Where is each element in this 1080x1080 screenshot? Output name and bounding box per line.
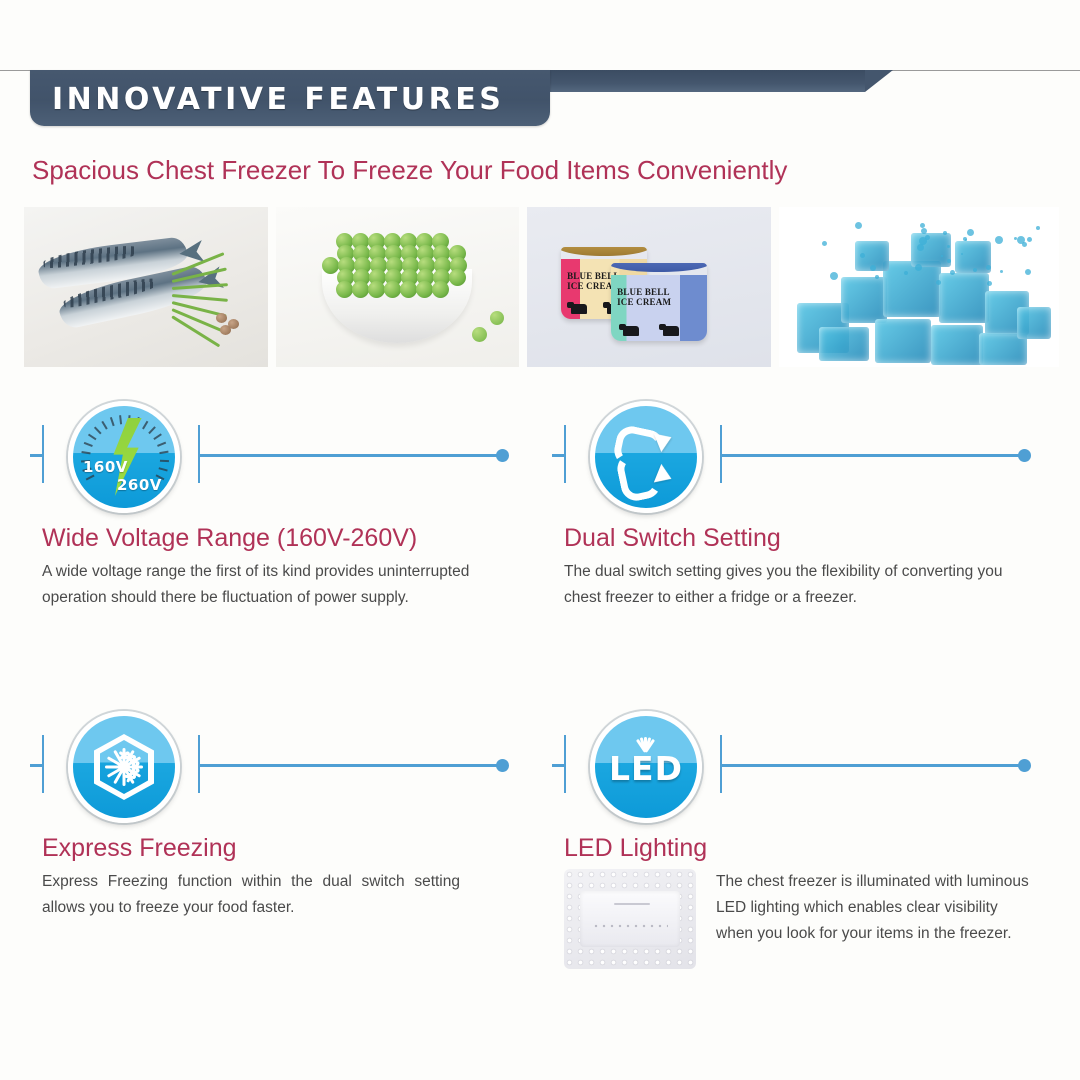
- feature-heading: Express Freezing: [42, 834, 237, 863]
- pea: [322, 257, 339, 274]
- pea: [490, 311, 504, 325]
- ice-cube: [931, 325, 983, 365]
- water-droplet: [987, 281, 992, 286]
- rail-dot: [1018, 759, 1031, 772]
- feature-heading: Wide Voltage Range (160V-260V): [42, 524, 417, 553]
- gauge-tick: [159, 451, 168, 454]
- led-slit: [614, 903, 650, 905]
- gauge-tick: [94, 426, 102, 434]
- chive: [172, 283, 228, 290]
- cow-silhouette: [663, 326, 679, 336]
- water-droplet: [830, 272, 838, 280]
- led-lamp-icon: LED: [590, 711, 702, 823]
- ice-cube: [939, 273, 989, 323]
- pea: [432, 281, 449, 298]
- pea: [336, 281, 353, 298]
- water-droplet: [1027, 237, 1032, 242]
- chive: [172, 294, 228, 302]
- tub-brand-line1: BLUE BELL: [617, 287, 670, 297]
- feature-body: The chest freezer is illuminated with lu…: [716, 869, 1034, 969]
- tub-brand-line2: ICE CREAM: [617, 297, 671, 307]
- shuffle-arrows-icon: [590, 401, 702, 513]
- led-diodes: [592, 923, 668, 929]
- ice-cube: [841, 277, 887, 323]
- water-droplet: [986, 265, 991, 270]
- feature-heading: Dual Switch Setting: [564, 524, 781, 553]
- water-droplet: [1000, 270, 1003, 273]
- gauge-tick: [119, 415, 122, 424]
- gauge-tick: [157, 442, 166, 447]
- water-droplet: [1025, 269, 1031, 275]
- feature-body: Express Freezing function within the dua…: [42, 869, 460, 921]
- innovative-features-page: INNOVATIVE FEATURES Spacious Chest Freez…: [0, 0, 1080, 1080]
- peas-pile: [316, 233, 478, 295]
- ice-cube: [883, 261, 941, 317]
- feature-body: The dual switch setting gives you the fl…: [564, 559, 1004, 611]
- frozen-fish-photo: [24, 207, 268, 367]
- voltage-high-label: 260V: [117, 476, 162, 494]
- gauge-tick: [142, 421, 148, 430]
- page-title: INNOVATIVE FEATURES: [52, 82, 552, 116]
- gauge-tick: [81, 451, 90, 454]
- rail-stub: [30, 454, 44, 457]
- snowflake-hexagon-icon: [68, 711, 180, 823]
- rail-dot: [1018, 449, 1031, 462]
- water-droplet: [917, 244, 924, 251]
- water-droplet: [855, 222, 862, 229]
- rail-stub: [552, 454, 566, 457]
- rail-line: [200, 764, 500, 767]
- snowflake-glyph: [106, 746, 142, 788]
- pea: [472, 327, 487, 342]
- pea: [352, 281, 369, 298]
- frozen-peas-photo: [276, 207, 520, 367]
- water-droplet: [904, 271, 908, 275]
- rail-dot: [496, 759, 509, 772]
- pea: [400, 281, 417, 298]
- photo-strip: BLUE BELL ICE CREAM BLUE BELL ICE CREAM: [24, 207, 1059, 367]
- cow-silhouette: [623, 326, 639, 336]
- gauge-tick: [148, 426, 156, 434]
- rail-line: [200, 454, 500, 457]
- tub-label: BLUE BELL ICE CREAM: [611, 275, 707, 341]
- water-droplet: [973, 268, 977, 272]
- water-droplet: [860, 253, 865, 258]
- water-droplet: [963, 237, 967, 241]
- water-droplet: [995, 236, 1003, 244]
- chives: [172, 269, 248, 323]
- ice-cube: [875, 319, 931, 363]
- pea: [416, 281, 433, 298]
- peppercorn: [216, 313, 227, 323]
- voltage-low-label: 160V: [83, 458, 128, 476]
- subtitle: Spacious Chest Freezer To Freeze Your Fo…: [32, 155, 1032, 186]
- rail-stub: [30, 764, 44, 767]
- ice-cube: [911, 233, 951, 267]
- led-content-block: The chest freezer is illuminated with lu…: [564, 869, 1034, 969]
- water-droplet: [920, 223, 925, 228]
- shuffle-glyph: [613, 424, 679, 490]
- tub-lid: [561, 247, 647, 256]
- ice-cube: [1017, 307, 1051, 339]
- gauge-tick: [84, 442, 93, 447]
- water-droplet: [967, 229, 974, 236]
- led-icon-label: LED: [595, 752, 697, 785]
- ice-cream-tubs-photo: BLUE BELL ICE CREAM BLUE BELL ICE CREAM: [527, 207, 771, 367]
- peppercorn: [220, 325, 231, 335]
- water-droplet: [947, 245, 950, 248]
- gauge-tick: [160, 460, 169, 462]
- water-droplet: [1017, 236, 1025, 244]
- gauge-tick: [88, 434, 97, 441]
- pea: [368, 281, 385, 298]
- feature-heading: LED Lighting: [564, 834, 707, 863]
- gauge-tick: [153, 433, 162, 440]
- voltage-gauge-icon: 160V 260V: [68, 401, 180, 513]
- water-droplet: [1036, 226, 1040, 230]
- rail-dot: [496, 449, 509, 462]
- gauge-tick: [101, 421, 107, 430]
- ice-cubes-photo: [779, 207, 1059, 367]
- led-light-module-photo: [564, 869, 696, 969]
- rail-line: [722, 764, 1022, 767]
- water-droplet: [875, 275, 879, 279]
- pea: [384, 281, 401, 298]
- water-droplet: [822, 241, 827, 246]
- rail-line: [722, 454, 1022, 457]
- pea: [449, 269, 466, 286]
- gauge-tick: [159, 467, 168, 471]
- ice-cube: [819, 327, 869, 361]
- cow-silhouette: [571, 304, 587, 314]
- ice-cream-tub: BLUE BELL ICE CREAM: [611, 263, 707, 341]
- tub-lid: [611, 263, 707, 272]
- gauge-tick: [110, 417, 115, 426]
- feature-body: A wide voltage range the first of its ki…: [42, 559, 482, 611]
- led-face: [580, 891, 680, 947]
- rail-stub: [552, 764, 566, 767]
